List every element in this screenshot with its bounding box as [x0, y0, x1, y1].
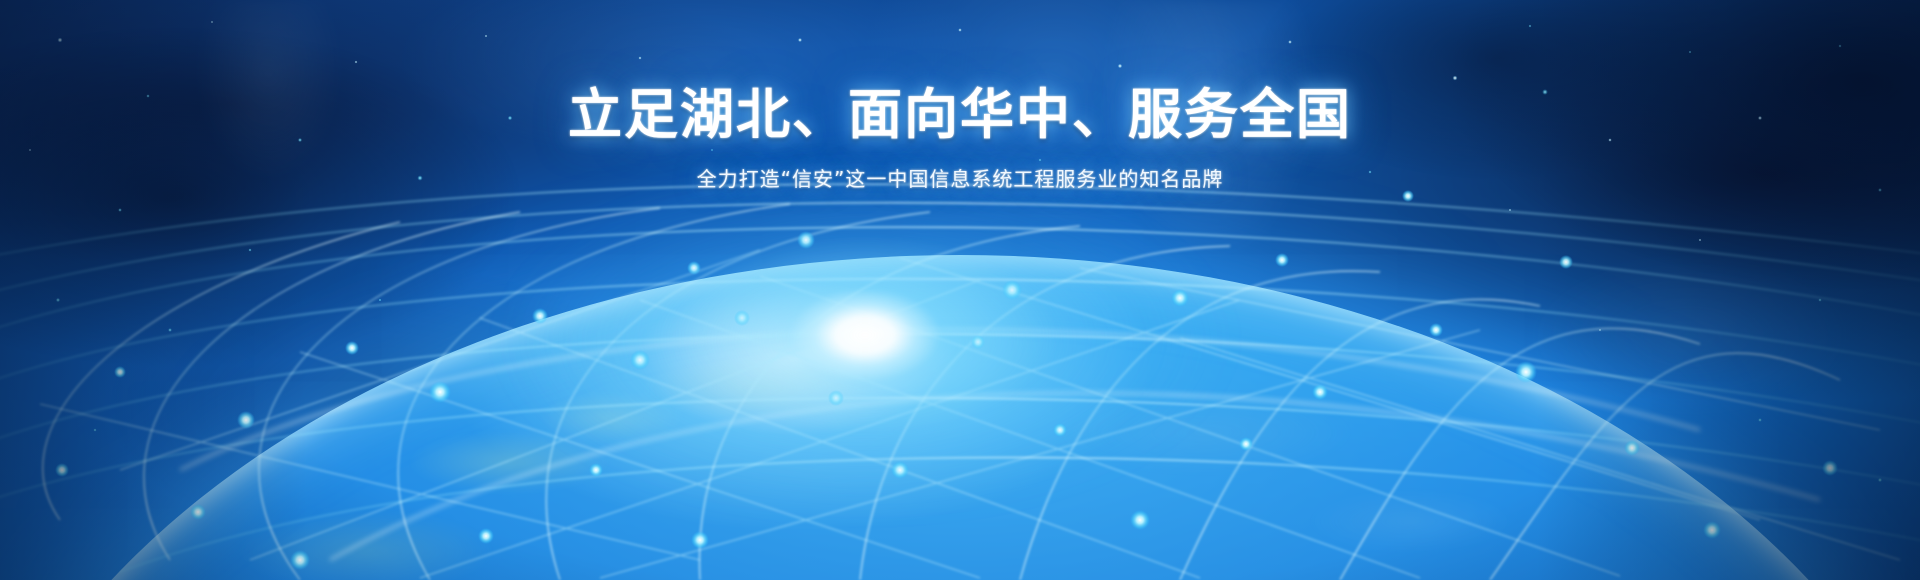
- banner-headline: 立足湖北、面向华中、服务全国: [0, 86, 1920, 143]
- banner-copy: 立足湖北、面向华中、服务全国 全力打造“信安”这一中国信息系统工程服务业的知名品…: [0, 86, 1920, 192]
- hero-banner: 立足湖北、面向华中、服务全国 全力打造“信安”这一中国信息系统工程服务业的知名品…: [0, 0, 1920, 580]
- banner-subheadline: 全力打造“信安”这一中国信息系统工程服务业的知名品牌: [0, 163, 1920, 192]
- light-burst: [595, 185, 1135, 485]
